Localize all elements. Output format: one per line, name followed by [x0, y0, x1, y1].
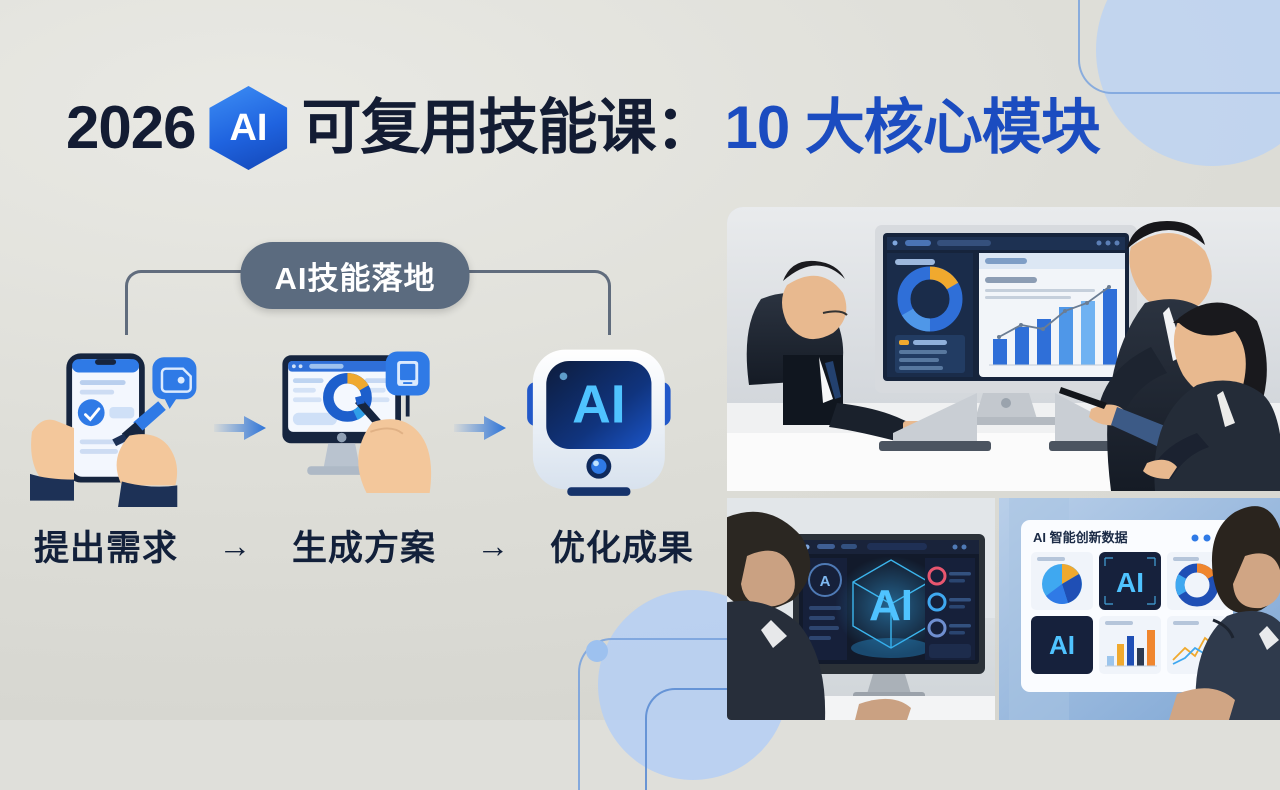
title-year: 2026: [66, 98, 195, 158]
flow-steps: AI: [30, 340, 690, 515]
decorative-dot-bottom: [586, 640, 608, 662]
ai-badge-label: AI: [229, 107, 267, 150]
title-highlight-text: 10 大核心模块: [724, 98, 1099, 158]
step-3-illustration: AI: [508, 340, 690, 515]
phone-hand-stylus-icon: [30, 340, 212, 507]
ai-robot-icon: AI: [508, 340, 690, 507]
arrow-right-icon: [214, 415, 266, 441]
analyst-ai-hologram-photo: A AI: [727, 498, 995, 720]
flow-arrow-2: [451, 415, 508, 441]
ai-hexagon-badge-icon: AI: [209, 86, 287, 170]
step-3-caption: 优化成果: [550, 520, 694, 571]
poster-canvas: 2026 AI 可复用技能课： 10 大核心模块 AI技能落地: [0, 0, 1280, 720]
svg-text:A: A: [820, 573, 831, 590]
step-2-illustration: [269, 340, 451, 515]
presentation-board-photo: AI 智能创新数据 AI: [999, 498, 1280, 720]
step-1-illustration: [30, 340, 212, 515]
flow-pill-badge: AI技能落地: [241, 242, 470, 309]
flow-captions: 提出需求 → 生成方案 → 优化成果: [34, 520, 694, 571]
photo-collage: A AI: [727, 207, 1280, 720]
meeting-room-dashboard-photo: [727, 207, 1280, 491]
caption-separator-2: →: [476, 527, 509, 565]
desktop-donut-chart-hand-icon: [269, 340, 451, 507]
title-middle-text: 可复用技能课：: [301, 98, 714, 158]
step-2-caption: 生成方案: [292, 520, 436, 571]
hologram-ai-label: AI: [869, 581, 913, 630]
decorative-corner-line-top-right: [1078, 0, 1280, 94]
flow-arrow-1: [212, 415, 269, 441]
page-title: 2026 AI 可复用技能课： 10 大核心模块: [66, 86, 1100, 170]
skill-flow-panel: AI技能落地: [0, 200, 710, 620]
arrow-right-icon: [454, 415, 506, 441]
robot-screen-label: AI: [572, 375, 626, 434]
board-ai-label-large: AI: [1116, 567, 1144, 598]
board-title-text: AI 智能创新数据: [1033, 530, 1128, 545]
caption-separator-1: →: [219, 527, 252, 565]
step-1-caption: 提出需求: [34, 520, 178, 571]
board-ai-label-small: AI: [1049, 630, 1075, 660]
